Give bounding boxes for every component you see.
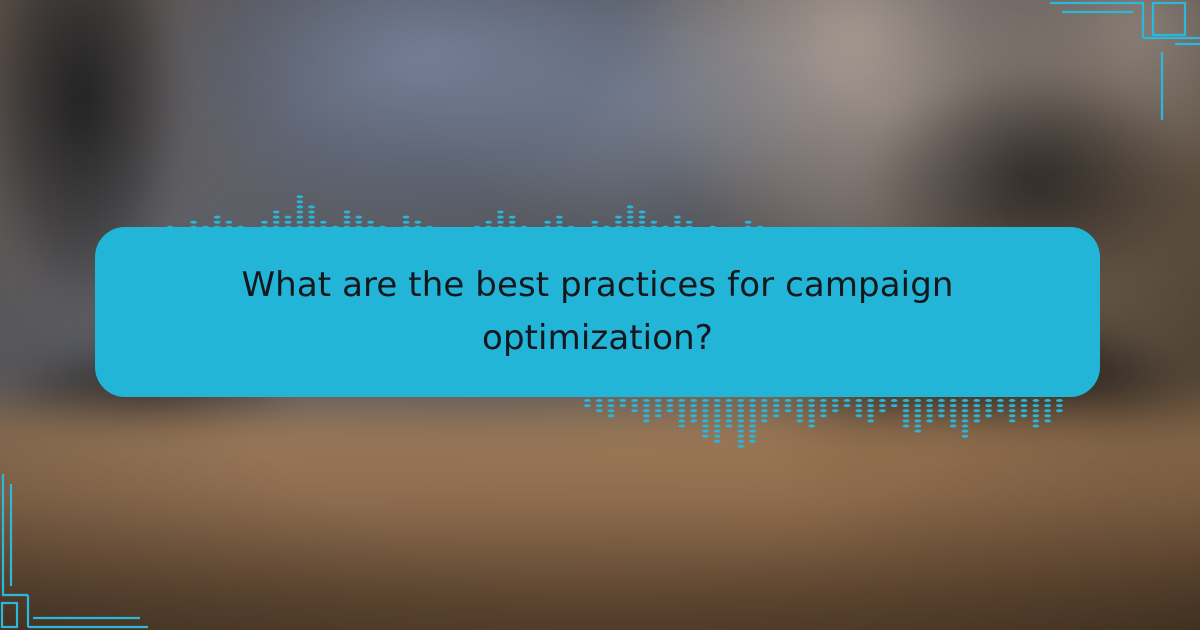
promo-card: What are the best practices for campaign… (0, 0, 1200, 630)
question-text: What are the best practices for campaign… (238, 259, 958, 364)
question-bubble[interactable]: What are the best practices for campaign… (95, 227, 1100, 397)
